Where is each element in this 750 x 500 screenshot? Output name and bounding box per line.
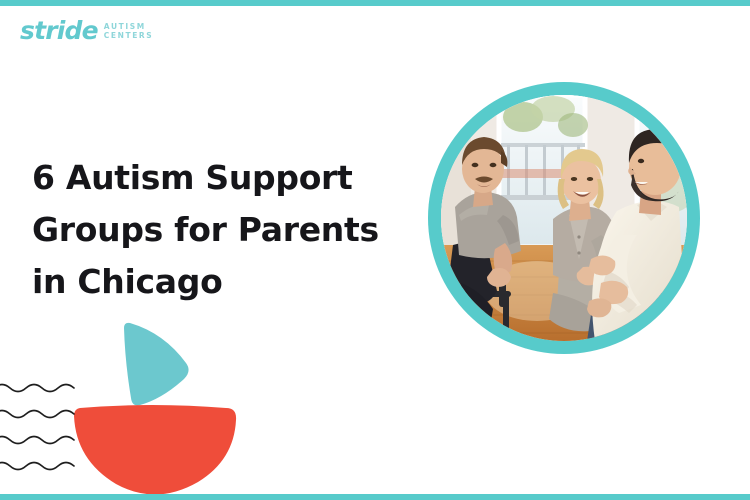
- page-title: 6 Autism Support Groups for Parents in C…: [32, 152, 412, 308]
- sail-icon: [124, 323, 189, 406]
- top-accent-bar: [0, 0, 750, 6]
- poster-canvas: stride AUTISM CENTERS 6 Autism Support G…: [0, 0, 750, 500]
- brand-logo[interactable]: stride AUTISM CENTERS: [20, 18, 153, 43]
- boat-hull-icon: [74, 405, 236, 495]
- logo-subtext-line-2: CENTERS: [104, 32, 154, 41]
- support-group-photo: [441, 95, 687, 341]
- photo-illustration: [441, 95, 687, 341]
- logo-wordmark: stride: [20, 18, 98, 43]
- sailboat-decoration: [60, 310, 260, 500]
- bottom-accent-bar: [0, 494, 750, 500]
- water-waves-icon: [0, 380, 86, 490]
- logo-subtext: AUTISM CENTERS: [104, 21, 154, 40]
- photo-ring: [428, 82, 700, 354]
